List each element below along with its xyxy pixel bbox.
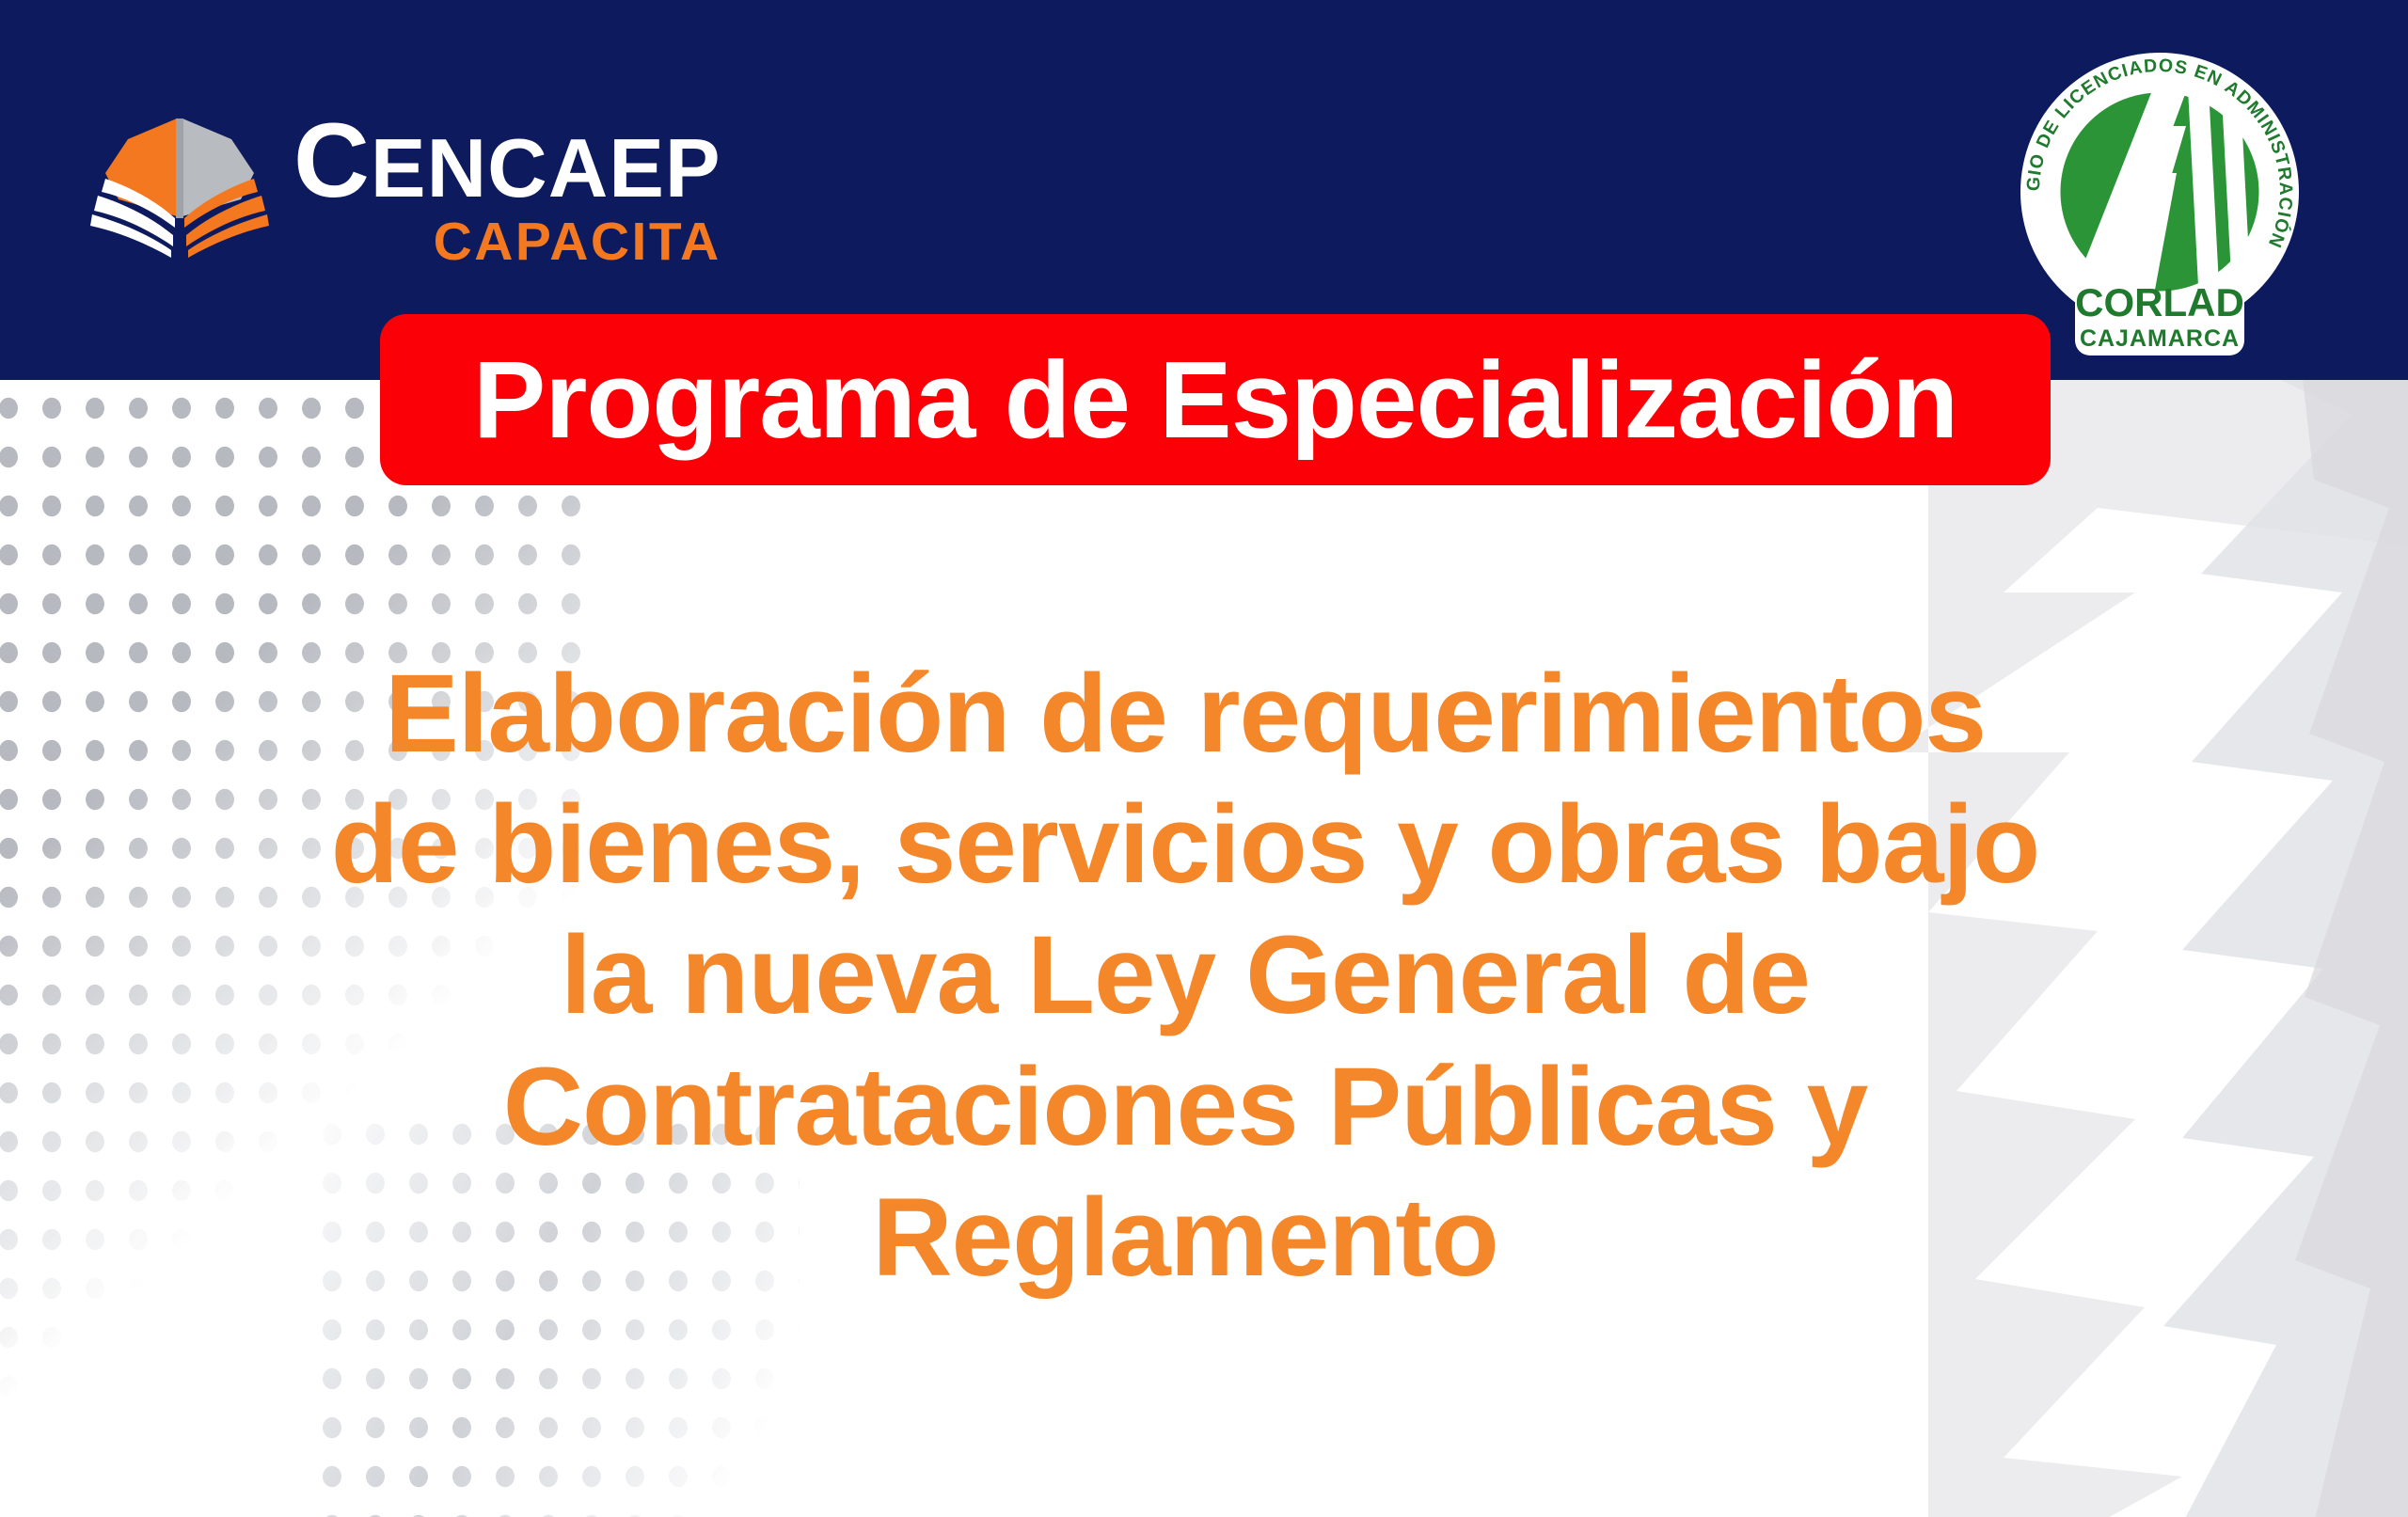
title-line: la nueva Ley General de [160,910,2210,1041]
open-book-icon [90,105,269,258]
brand-tagline: CAPACITA [434,215,721,269]
brand-logo: CENCAEP CAPACITA [90,105,721,269]
brand-name-rest: ENCAEP [371,121,721,214]
brand-name: CENCAEP [293,111,721,210]
page-title: Elaboración de requerimientos de bienes,… [160,649,2210,1304]
program-ribbon: Programa de Especialización [380,314,2051,485]
title-line: Elaboración de requerimientos [160,649,2210,780]
program-ribbon-label: Programa de Especialización [473,345,1957,454]
corlad-seal-icon: COLEGIO DE LICENCIADOS EN ADMINISTRACIÓN… [2009,13,2310,361]
brand-name-initial: C [293,102,371,219]
promotional-banner: CENCAEP CAPACITA [0,0,2408,1517]
title-line: Reglamento [160,1173,2210,1304]
title-line: Contrataciones Públicas y [160,1042,2210,1173]
title-line: de bienes, servicios y obras bajo [160,780,2210,910]
seal-acronym: CORLAD [2075,280,2244,324]
seal-region: CAJAMARCA [2080,325,2240,352]
